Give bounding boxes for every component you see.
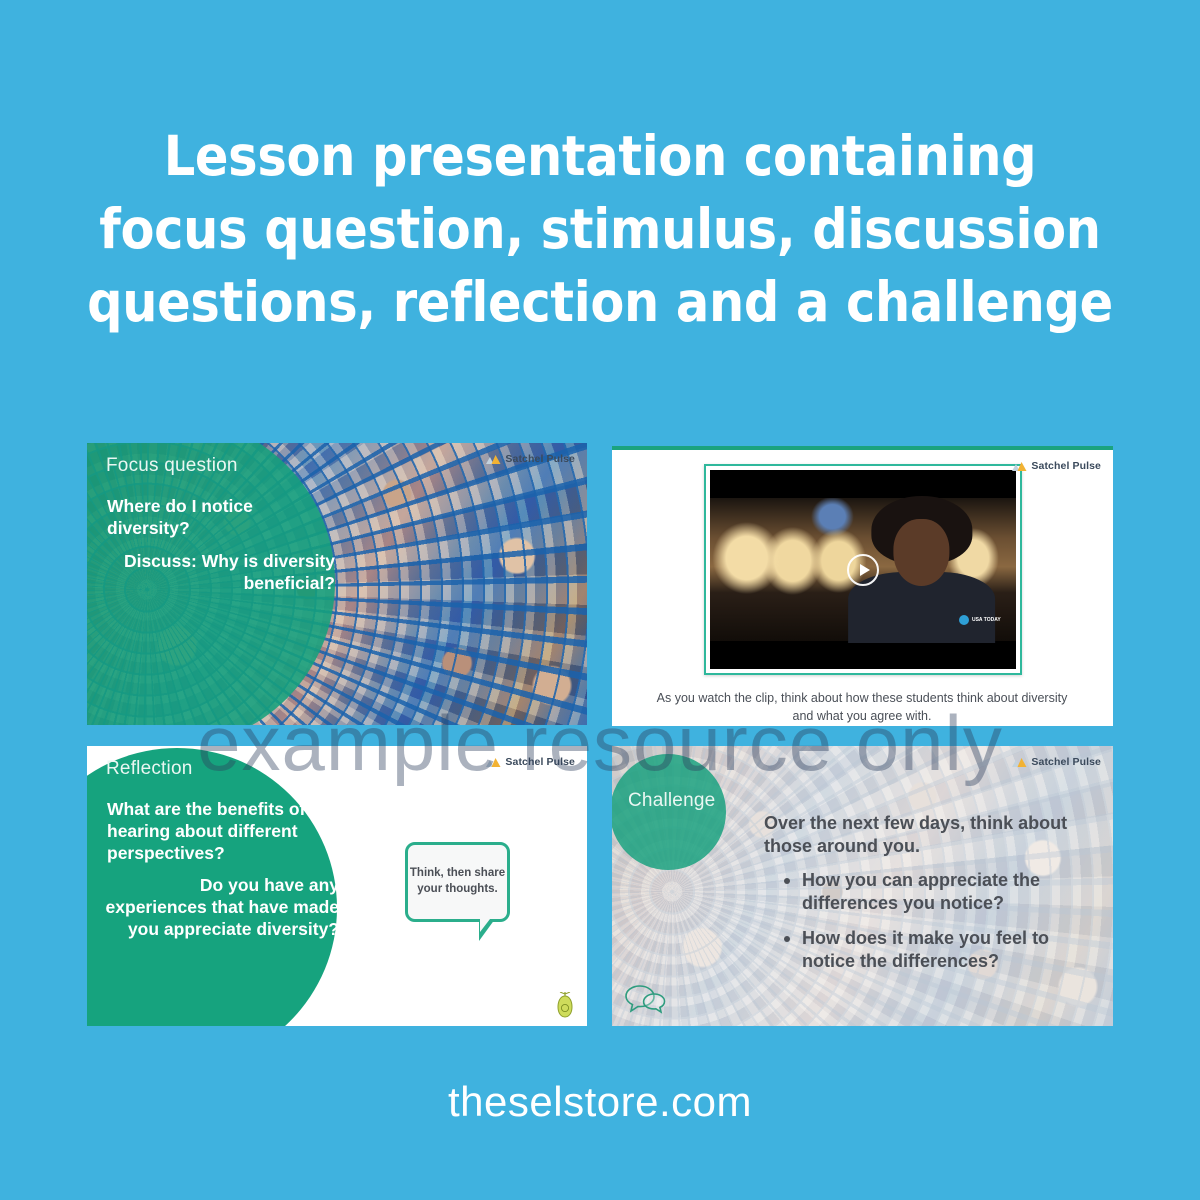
focus-question-secondary-text: Discuss: Why is diversity beneficial? (107, 550, 335, 594)
satchel-pulse-mark-icon (486, 454, 501, 465)
pear-icon (555, 992, 575, 1018)
usa-today-badge-text: USA TODAY (972, 618, 1001, 623)
video-frame: USA TODAY (710, 470, 1016, 669)
challenge-bullet-item: How does it make you feel to notice the … (788, 927, 1094, 974)
page-title-line-1: Lesson presentation containing (0, 120, 1200, 193)
challenge-body: Over the next few days, think about thos… (764, 812, 1094, 984)
speech-bubble-text: Think, then share your thoughts. (408, 866, 507, 898)
teal-circle-overlay (612, 754, 726, 870)
page-title: Lesson presentation containing focus que… (0, 120, 1200, 339)
slide-stimulus-video[interactable]: USA TODAY As you watch the clip, think a… (612, 446, 1113, 726)
satchel-pulse-logo: Satchel Pulse (486, 453, 575, 465)
satchel-pulse-logo-text: Satchel Pulse (1031, 460, 1101, 472)
satchel-pulse-logo: Satchel Pulse (1012, 460, 1101, 472)
satchel-pulse-logo-text: Satchel Pulse (505, 756, 575, 768)
usa-today-badge: USA TODAY (959, 615, 1001, 625)
satchel-pulse-logo: Satchel Pulse (486, 756, 575, 768)
slide-label-reflection: Reflection (106, 758, 193, 780)
slide-label-focus-question: Focus question (106, 455, 238, 477)
reflection-primary-text: What are the benefits of hearing about d… (107, 798, 347, 864)
footer-website-url: theselstore.com (0, 1078, 1200, 1126)
focus-question-primary-text: Where do I notice diversity? (107, 495, 337, 539)
challenge-bullet-item: How you can appreciate the differences y… (788, 869, 1094, 916)
slide-challenge[interactable]: Challenge Over the next few days, think … (612, 746, 1113, 1026)
satchel-pulse-logo-text: Satchel Pulse (505, 453, 575, 465)
speech-bubble-tail-inner (480, 919, 490, 932)
slide-label-challenge: Challenge (628, 790, 715, 812)
play-triangle-icon (860, 564, 870, 576)
usa-today-dot-icon (959, 615, 969, 625)
satchel-pulse-logo: Satchel Pulse (1012, 756, 1101, 768)
reflection-secondary-text: Do you have any experiences that have ma… (105, 874, 339, 940)
page-title-line-3: questions, reflection and a challenge (0, 266, 1200, 339)
video-player[interactable]: USA TODAY (704, 464, 1022, 675)
speech-bubbles-icon (624, 984, 666, 1014)
slide-reflection[interactable]: Reflection What are the benefits of hear… (87, 746, 587, 1026)
challenge-intro-text: Over the next few days, think about thos… (764, 812, 1094, 859)
satchel-pulse-mark-icon (1012, 757, 1027, 768)
satchel-pulse-logo-text: Satchel Pulse (1031, 756, 1101, 768)
page-title-line-2: focus question, stimulus, discussion (0, 193, 1200, 266)
video-caption: As you watch the clip, think about how t… (652, 690, 1072, 725)
play-button[interactable] (847, 554, 879, 586)
satchel-pulse-mark-icon (1012, 461, 1027, 472)
speech-bubble: Think, then share your thoughts. (405, 842, 510, 922)
challenge-bullet-list: How you can appreciate the differences y… (764, 869, 1094, 974)
slide-gallery: Focus question Where do I notice diversi… (87, 443, 1115, 1026)
satchel-pulse-mark-icon (486, 757, 501, 768)
slide-focus-question[interactable]: Focus question Where do I notice diversi… (87, 443, 587, 725)
